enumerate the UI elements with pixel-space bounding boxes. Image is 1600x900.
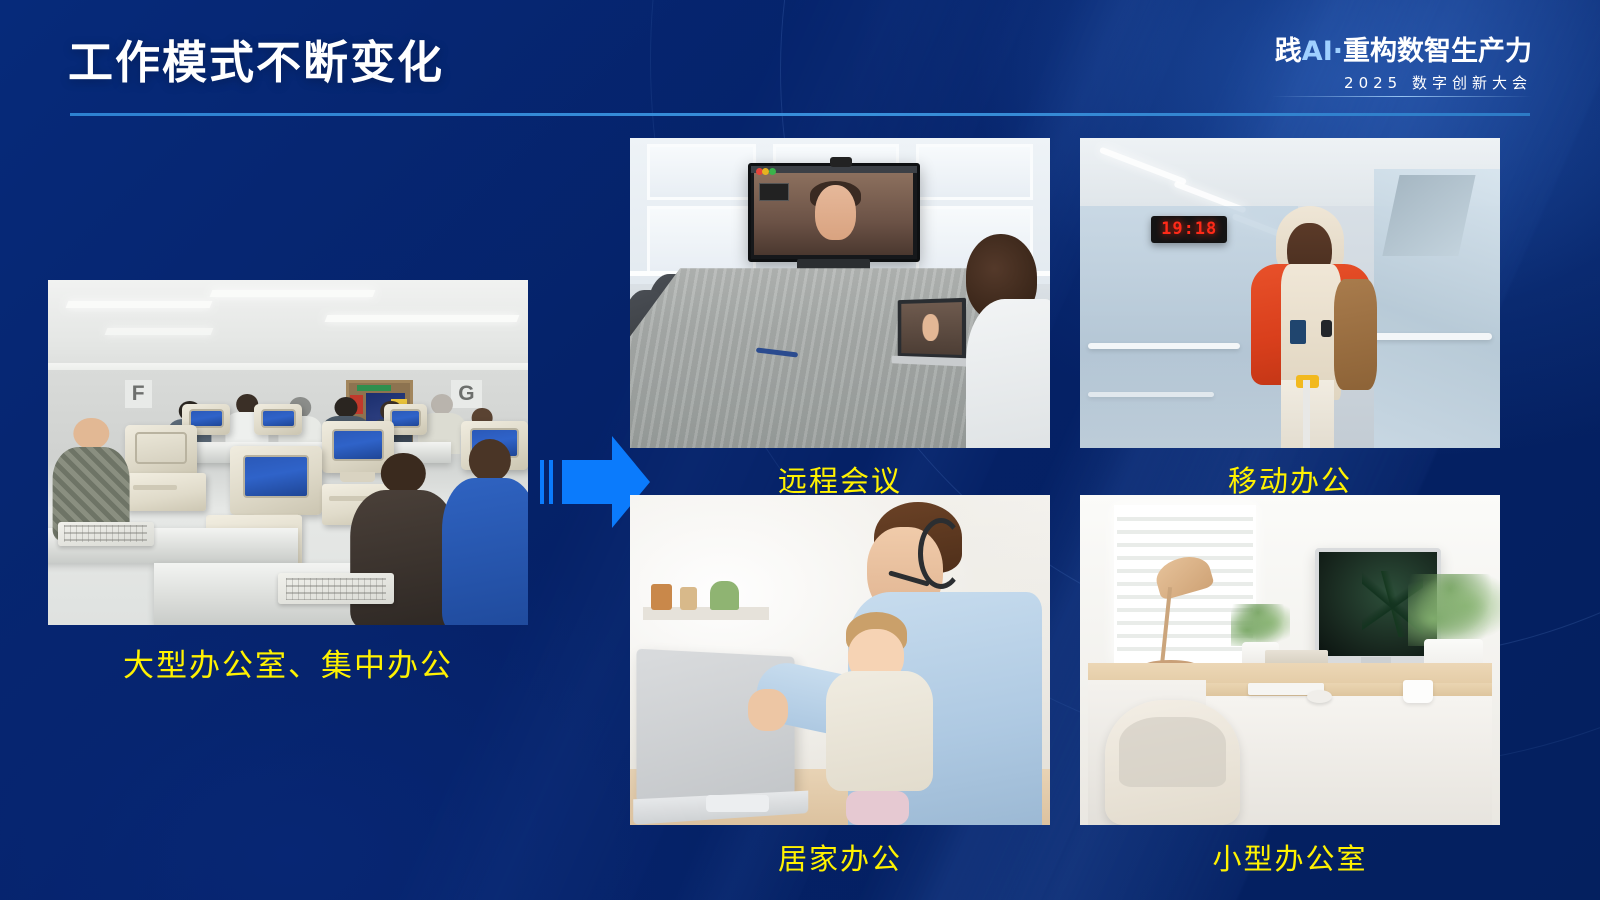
baby-legs [846,791,909,825]
photo-home-office [630,495,1050,825]
caption-large-office: 大型办公室、集中办公 [48,640,528,685]
parent-hand [748,689,788,731]
window-pane [916,144,1034,200]
handrail [1088,392,1214,397]
person-head [74,418,109,449]
caption-home-office: 居家办公 [630,836,1050,878]
traveler-figure [1248,206,1374,448]
logo-accent: AI· [1302,36,1343,67]
kitchen-jar [651,584,672,610]
self-view-thumbnail [759,183,789,202]
departure-clock: 19:18 [1151,216,1227,244]
small-office-scene [1080,495,1500,825]
laptop-video-face [922,314,939,341]
slide-root: 工作模式不断变化 践AI·重构数智生产力 2025 数字创新大会 F G [0,0,1600,900]
crt-monitor [254,404,302,435]
keyboard [278,573,393,604]
kitchen-plant [710,581,739,611]
participant-face [815,185,856,241]
zone-label-f: F [125,380,152,408]
lab-person-foreground [442,439,528,625]
crt-screen [135,432,187,464]
wall-display [748,163,920,262]
lab-light-strip [104,328,212,335]
headset-icon [918,518,964,589]
lab-person-foreground [53,418,130,539]
caption-small-office: 小型办公室 [1080,836,1500,878]
computer-tower [125,473,207,511]
lab-light-strip [210,290,376,297]
title-divider [70,113,1530,116]
keyboard-keys [64,525,147,542]
coffee-mug [1403,680,1432,703]
arrow-tail-stripes [540,460,556,504]
webcam-icon [830,157,852,167]
person-torso [350,490,456,625]
handrail [1088,343,1239,349]
crt-screen [390,409,421,428]
baby-outfit [826,671,933,791]
exit-sign [357,385,391,392]
crt-screen [243,455,309,498]
caption-mobile-work: 移动办公 [1080,458,1500,500]
lab-light-strip [66,301,213,308]
attendee-body [966,299,1050,448]
person-head [468,439,510,482]
logo-prefix: 践 [1275,36,1302,67]
home-office-scene [630,495,1050,825]
photo-large-office: F G [48,280,528,625]
smartphone [1290,320,1306,344]
baby-figure [819,612,941,825]
logo-underline [1272,96,1532,97]
laptop-screen [901,302,961,356]
plant-leaves [1231,604,1290,646]
window-pane [647,206,756,274]
keyboard-keys [286,578,385,600]
crt-monitor [125,425,197,477]
large-office-scene: F G [48,280,528,625]
chair-seatback [1119,717,1227,787]
toolbar-dot-green [769,168,776,175]
kitchen-jar [680,587,697,610]
laptop [897,298,966,359]
clock-time: 19:18 [1161,219,1217,239]
photo-small-office [1080,495,1500,825]
logo-main-text: 践AI·重构数智生产力 [1272,38,1532,65]
crt-monitor-foxpro [230,446,321,515]
tower-drive-slot [133,485,177,490]
remote-meeting-scene [630,138,1050,448]
mobile-work-scene: 19:18 [1080,138,1500,448]
person-head [381,453,425,494]
logo-suffix: 重构数智生产力 [1343,36,1532,67]
backpack [1334,279,1377,390]
window-pane [647,144,756,200]
smartphone [706,795,769,812]
logo-subtitle: 2025 数字创新大会 [1272,76,1532,91]
mouse [1307,690,1332,703]
caption-remote-meeting: 远程会议 [630,458,1050,500]
crt-screen [261,409,296,428]
person-torso [442,478,528,625]
lab-light-strip [325,315,520,322]
keyboard [58,522,154,546]
page-title: 工作模式不断变化 [68,36,444,90]
desk-chair [1105,700,1239,825]
plant-leaves [1408,574,1500,646]
smartwatch [1321,320,1332,337]
photo-remote-meeting [630,138,1050,448]
photo-mobile-work: 19:18 [1080,138,1500,448]
rolling-suitcase [1303,380,1309,448]
parent-figure [832,502,1042,825]
event-logo: 践AI·重构数智生产力 2025 数字创新大会 [1272,38,1532,97]
